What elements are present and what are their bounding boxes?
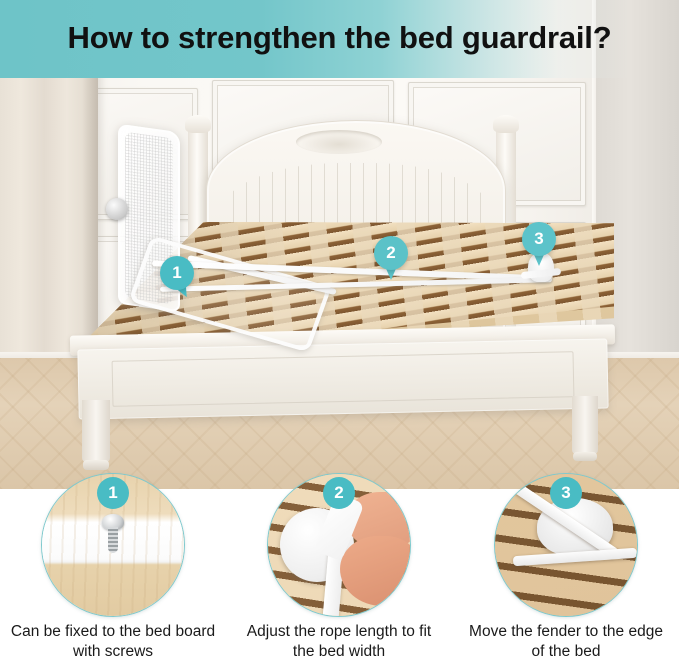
bed-footboard — [77, 338, 608, 419]
pin-number: 1 — [160, 256, 194, 290]
screw-icon — [102, 514, 124, 530]
step-caption-1: Can be fixed to the bed board with screw… — [8, 622, 218, 662]
step-card-1: 1 Can be fixed to the bed board with scr… — [0, 489, 226, 665]
hero-pin-3: 3 — [522, 222, 556, 256]
step-badge-1: 1 — [97, 477, 129, 509]
hero-pin-2: 2 — [374, 236, 408, 270]
bed-leg-left — [82, 400, 110, 462]
hand-lower — [340, 536, 411, 606]
step-strip: 1 Can be fixed to the bed board with scr… — [0, 489, 679, 665]
step-card-2: 2 Adjust the rope length to fit the bed … — [226, 489, 452, 665]
page-title: How to strengthen the bed guardrail? — [0, 20, 679, 56]
pin-number: 2 — [374, 236, 408, 270]
hero-pin-1: 1 — [160, 256, 194, 290]
pin-number: 3 — [522, 222, 556, 256]
step-badge-2: 2 — [323, 477, 355, 509]
bed-leg-right — [572, 396, 598, 454]
step-caption-2: Adjust the rope length to fit the bed wi… — [234, 622, 444, 662]
headboard-carving — [296, 130, 382, 154]
guardrail-adjust-knob — [106, 198, 128, 220]
title-banner: How to strengthen the bed guardrail? — [0, 0, 679, 78]
product-instruction-graphic: 1 2 3 How to strengthen the bed guardrai… — [0, 0, 679, 665]
step-card-3: 3 Move the fender to the edge of the bed — [453, 489, 679, 665]
step-caption-3: Move the fender to the edge of the bed — [461, 622, 671, 662]
hero-photo: 1 2 3 How to strengthen the bed guardrai… — [0, 0, 679, 489]
step-badge-3: 3 — [550, 477, 582, 509]
